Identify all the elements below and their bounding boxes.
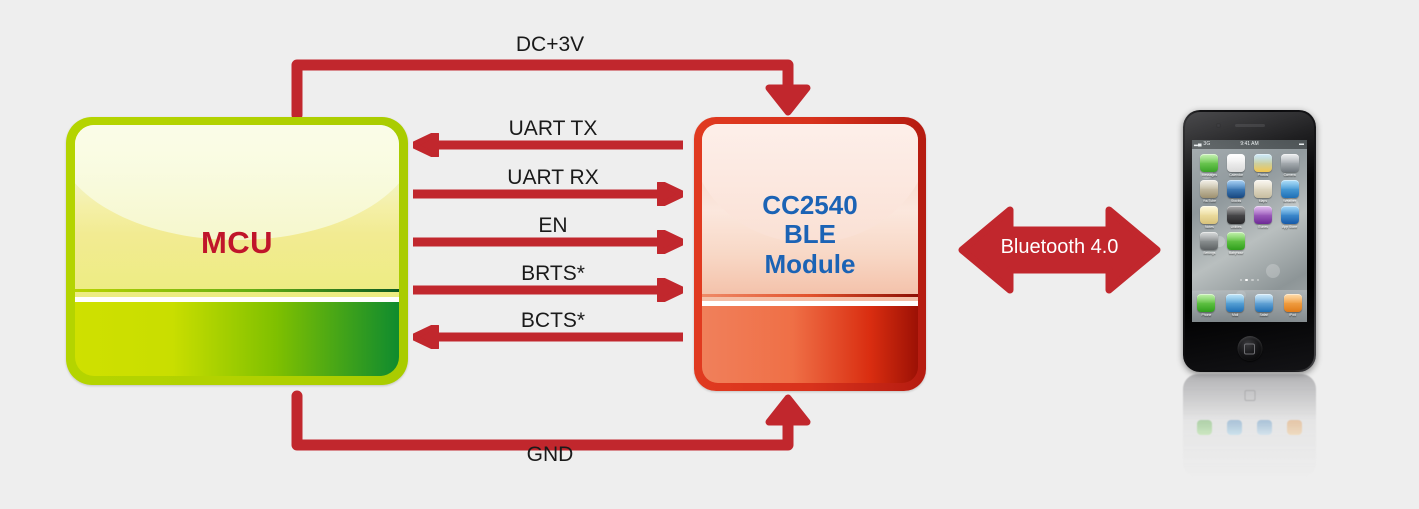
mcu-block[interactable]: MCU — [66, 117, 408, 385]
app-icon-app-store[interactable]: App Store — [1276, 206, 1303, 229]
app-icon-label: iTunes — [1258, 225, 1268, 229]
reflection-dock — [1189, 420, 1310, 446]
app-icon-label: Messages — [1202, 173, 1217, 177]
signal-arrow-en — [413, 230, 683, 254]
dock-icon-phone[interactable]: Phone — [1197, 294, 1215, 317]
app-icon-label: Utilities — [1231, 225, 1242, 229]
app-glyph-icon — [1200, 206, 1218, 224]
phone-dock: PhoneMailSafariiPod — [1192, 290, 1307, 322]
app-icon-photos[interactable]: Photos — [1250, 154, 1277, 177]
app-glyph-icon — [1200, 180, 1218, 198]
ble-divider-stripe — [702, 301, 918, 306]
front-camera-icon — [1216, 123, 1221, 128]
reflection-home-square — [1244, 390, 1255, 401]
dock-icon-label: Safari — [1259, 313, 1268, 317]
app-icon-itunes[interactable]: iTunes — [1250, 206, 1277, 229]
ble-surface: CC2540 BLE Module — [702, 124, 918, 383]
phone-screen[interactable]: ▂▄ 3G 9:41 AM ▬ MessagesCalendarPhotosCa… — [1192, 140, 1307, 322]
app-glyph-icon — [1200, 154, 1218, 172]
phone-mirror-reflection — [1183, 374, 1316, 478]
signal-arrow-uart-rx — [413, 182, 683, 206]
page-dot — [1257, 279, 1260, 282]
phone-body: ▂▄ 3G 9:41 AM ▬ MessagesCalendarPhotosCa… — [1185, 112, 1314, 370]
dock-icon-label: Mail — [1232, 313, 1238, 317]
app-icon-messages[interactable]: Messages — [1196, 154, 1223, 177]
app-icon-label: Stocks — [1231, 199, 1241, 203]
app-glyph-icon — [1281, 206, 1299, 224]
diagram-canvas: DC+3V GND MCU UART TX UART RX EN BRTS* — [0, 0, 1419, 509]
dock-glyph-icon — [1255, 294, 1273, 312]
app-icon-maps[interactable]: Maps — [1250, 180, 1277, 203]
app-icon-label: YouTube — [1203, 199, 1216, 203]
status-battery: ▬ — [1299, 140, 1304, 149]
ground-rail-label: GND — [400, 443, 700, 467]
reflection-dock-blob — [1227, 420, 1242, 435]
app-icon-utilities[interactable]: Utilities — [1223, 206, 1250, 229]
dock-glyph-icon — [1284, 294, 1302, 312]
status-bar: ▂▄ 3G 9:41 AM ▬ — [1192, 140, 1307, 149]
app-icon-notes[interactable]: Notes — [1196, 206, 1223, 229]
app-icon-label: Babyhour — [1229, 251, 1244, 255]
ble-divider-dark — [702, 294, 918, 297]
app-glyph-icon — [1200, 232, 1218, 250]
app-glyph-icon — [1254, 154, 1272, 172]
reflection-dock-blob — [1197, 420, 1212, 435]
dock-icon-label: Phone — [1201, 313, 1211, 317]
mcu-divider-stripe — [75, 297, 399, 302]
dock-glyph-icon — [1226, 294, 1244, 312]
mcu-label: MCU — [75, 225, 399, 261]
app-glyph-icon — [1254, 206, 1272, 224]
ble-module-block[interactable]: CC2540 BLE Module — [694, 117, 926, 391]
home-screen-icon-grid: MessagesCalendarPhotosCameraYouTubeStock… — [1192, 151, 1307, 255]
page-dot — [1251, 279, 1254, 282]
app-glyph-icon — [1227, 206, 1245, 224]
ble-label-line1: CC2540 — [702, 191, 918, 220]
app-glyph-icon — [1254, 180, 1272, 198]
app-icon-label: Notes — [1205, 225, 1214, 229]
reflection-dock-blob — [1287, 420, 1302, 435]
bluetooth-link-label: Bluetooth 4.0 — [958, 236, 1161, 259]
dock-icon-ipod[interactable]: iPod — [1284, 294, 1302, 317]
mcu-divider-dark — [75, 289, 399, 292]
signal-arrow-brts — [413, 278, 683, 302]
ble-module-label: CC2540 BLE Module — [702, 191, 918, 278]
app-glyph-icon — [1281, 154, 1299, 172]
dock-icon-mail[interactable]: Mail — [1226, 294, 1244, 317]
reflection-dock-blob — [1257, 420, 1272, 435]
page-dots — [1192, 268, 1307, 286]
app-glyph-icon — [1227, 232, 1245, 250]
signal-arrow-bcts — [413, 325, 683, 349]
app-glyph-icon — [1281, 180, 1299, 198]
power-rail-label: DC+3V — [400, 33, 700, 57]
app-icon-settings[interactable]: Settings — [1196, 232, 1223, 255]
app-icon-label: Camera — [1284, 173, 1296, 177]
mcu-surface: MCU — [75, 125, 399, 376]
app-icon-babyhour[interactable]: Babyhour — [1223, 232, 1250, 255]
app-icon-label: Maps — [1259, 199, 1267, 203]
app-icon-label: Photos — [1258, 173, 1269, 177]
home-button[interactable] — [1237, 336, 1262, 361]
app-icon-label: App Store — [1282, 225, 1297, 229]
dock-glyph-icon — [1197, 294, 1215, 312]
app-glyph-icon — [1227, 180, 1245, 198]
ble-label-line2: BLE — [702, 220, 918, 249]
page-dot — [1245, 279, 1248, 282]
app-icon-youtube[interactable]: YouTube — [1196, 180, 1223, 203]
ble-label-line3: Module — [702, 250, 918, 279]
app-icon-label: Weather — [1283, 199, 1296, 203]
app-icon-stocks[interactable]: Stocks — [1223, 180, 1250, 203]
smartphone-device[interactable]: ▂▄ 3G 9:41 AM ▬ MessagesCalendarPhotosCa… — [1183, 110, 1316, 372]
earpiece-speaker — [1235, 124, 1265, 127]
app-glyph-icon — [1227, 154, 1245, 172]
dock-icon-safari[interactable]: Safari — [1255, 294, 1273, 317]
page-dot — [1240, 279, 1243, 282]
dock-icon-label: iPod — [1289, 313, 1296, 317]
app-icon-calendar[interactable]: Calendar — [1223, 154, 1250, 177]
home-button-square-icon — [1244, 343, 1255, 354]
app-icon-label: Calendar — [1229, 173, 1243, 177]
status-time: 9:41 AM — [1192, 140, 1307, 149]
app-icon-camera[interactable]: Camera — [1276, 154, 1303, 177]
app-icon-label: Settings — [1203, 251, 1215, 255]
signal-arrow-uart-tx — [413, 133, 683, 157]
app-icon-weather[interactable]: Weather — [1276, 180, 1303, 203]
